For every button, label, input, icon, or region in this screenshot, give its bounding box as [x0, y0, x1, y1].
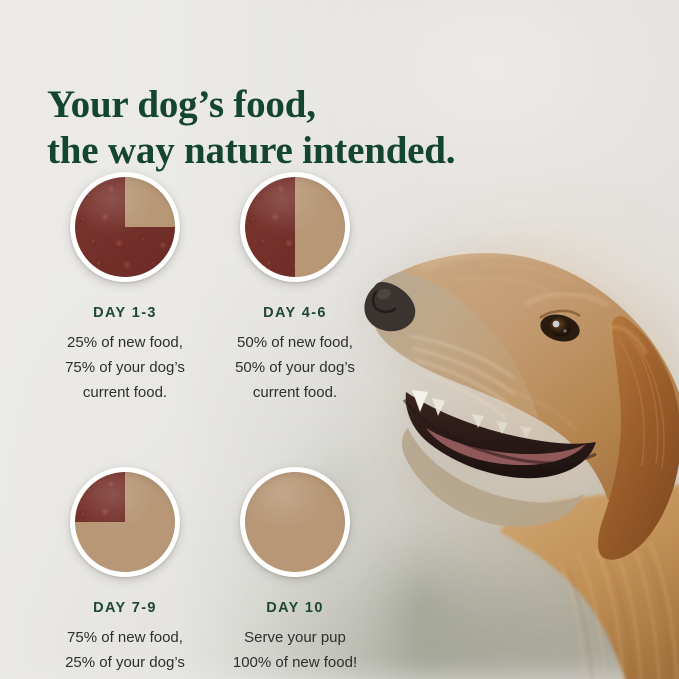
bowl-holder	[210, 172, 380, 292]
desc-line: current food.	[210, 380, 380, 405]
headline-line-2: the way nature intended.	[47, 128, 517, 174]
desc-line: current food.	[40, 675, 210, 679]
desc-line: current food.	[40, 380, 210, 405]
desc-line: 100% of new food!	[210, 650, 380, 675]
transition-steps: DAY 1-3 25% of new food, 75% of your dog…	[40, 172, 380, 679]
food-bowl-day-7-9	[70, 467, 180, 577]
bowl-food-mix	[75, 177, 175, 277]
day-label: DAY 1-3	[40, 305, 210, 321]
bowl-holder	[210, 467, 380, 587]
step-day-4-6: DAY 4-6 50% of new food, 50% of your dog…	[210, 172, 380, 405]
dog-photo	[360, 232, 679, 679]
desc-line: Serve your pup	[210, 625, 380, 650]
headline-line-1: Your dog’s food,	[47, 83, 316, 126]
step-description: 25% of new food, 75% of your dog’s curre…	[40, 330, 210, 405]
step-description: 50% of new food, 50% of your dog’s curre…	[210, 330, 380, 405]
day-label: DAY 4-6	[210, 305, 380, 321]
steps-row-1: DAY 1-3 25% of new food, 75% of your dog…	[40, 172, 380, 405]
desc-line: 75% of new food,	[40, 625, 210, 650]
food-bowl-day-1-3	[70, 172, 180, 282]
day-label: DAY 10	[210, 600, 380, 616]
new-food-kibble	[245, 472, 345, 572]
bowl-holder	[40, 467, 210, 587]
step-day-10: DAY 10 Serve your pup 100% of new food!	[210, 405, 380, 679]
promo-graphic: Your dog’s food, the way nature intended…	[0, 0, 679, 679]
step-description: Serve your pup 100% of new food!	[210, 625, 380, 675]
step-day-1-3: DAY 1-3 25% of new food, 75% of your dog…	[40, 172, 210, 405]
desc-line: 25% of new food,	[40, 330, 210, 355]
bowl-food-mix	[245, 472, 345, 572]
bowl-holder	[40, 172, 210, 292]
bowl-food-mix	[75, 472, 175, 572]
desc-line: 50% of new food,	[210, 330, 380, 355]
step-day-7-9: DAY 7-9 75% of new food, 25% of your dog…	[40, 405, 210, 679]
step-description: 75% of new food, 25% of your dog’s curre…	[40, 625, 210, 679]
page-title: Your dog’s food, the way nature intended…	[47, 82, 517, 174]
desc-line: 50% of your dog’s	[210, 355, 380, 380]
desc-line: 25% of your dog’s	[40, 650, 210, 675]
desc-line: 75% of your dog’s	[40, 355, 210, 380]
food-bowl-day-10	[240, 467, 350, 577]
steps-row-2: DAY 7-9 75% of new food, 25% of your dog…	[40, 405, 380, 679]
bowl-food-mix	[245, 177, 345, 277]
food-bowl-day-4-6	[240, 172, 350, 282]
day-label: DAY 7-9	[40, 600, 210, 616]
